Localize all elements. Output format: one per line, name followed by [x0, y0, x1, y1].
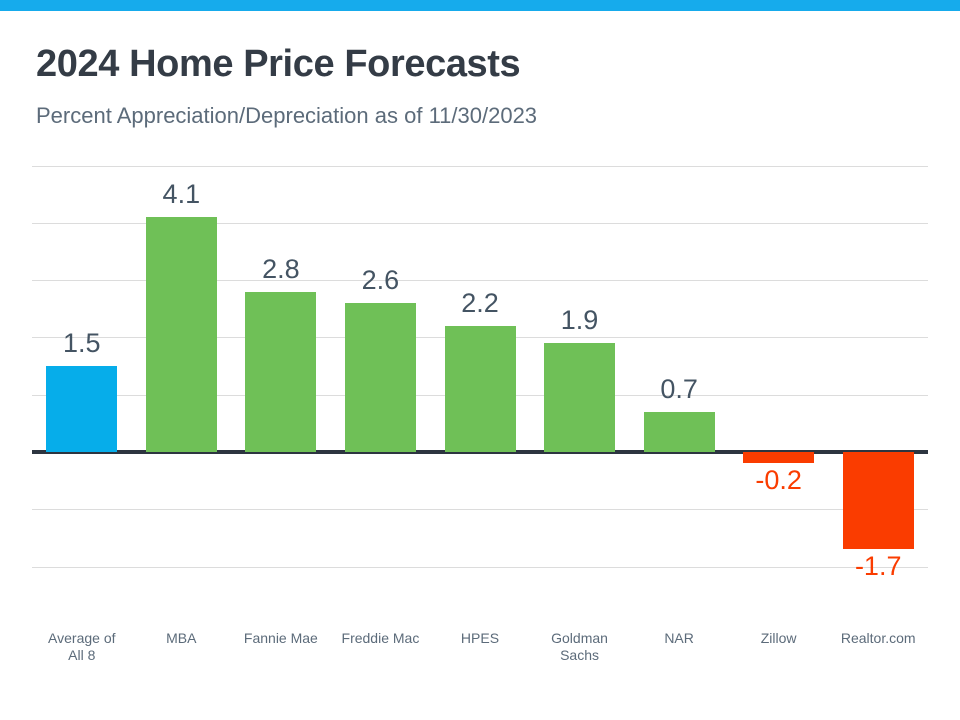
- chart-x-axis-label: Realtor.com: [828, 630, 928, 647]
- chart-value-label: 1.9: [530, 305, 630, 336]
- chart-bar: [345, 303, 416, 452]
- chart-x-axis-label-line: Freddie Mac: [331, 630, 431, 647]
- chart-bar: [843, 452, 914, 549]
- chart-x-axis-label: NAR: [629, 630, 729, 647]
- chart-bar: [146, 217, 217, 452]
- chart-x-axis-label-line: All 8: [32, 647, 132, 664]
- chart-x-axis-label-line: MBA: [132, 630, 232, 647]
- chart-value-label: 2.6: [331, 265, 431, 296]
- chart-value-label: 1.5: [32, 328, 132, 359]
- chart-value-label: -1.7: [828, 551, 928, 582]
- chart-x-axis-label: Fannie Mae: [231, 630, 331, 647]
- chart-x-axis-label: HPES: [430, 630, 530, 647]
- chart-value-label: 2.2: [430, 288, 530, 319]
- chart-bar: [445, 326, 516, 452]
- chart-bar: [644, 412, 715, 452]
- chart-x-axis-label: Average ofAll 8: [32, 630, 132, 664]
- chart-x-axis-label-line: HPES: [430, 630, 530, 647]
- chart-x-axis-label: Zillow: [729, 630, 829, 647]
- page-title: 2024 Home Price Forecasts: [36, 43, 520, 86]
- chart-value-label: 4.1: [132, 179, 232, 210]
- page-subtitle: Percent Appreciation/Depreciation as of …: [36, 103, 537, 129]
- top-accent-bar: [0, 0, 960, 11]
- chart-bar: [46, 366, 117, 452]
- chart-bar: [743, 452, 814, 463]
- chart-x-axis-label-line: Zillow: [729, 630, 829, 647]
- infographic-root: 2024 Home Price Forecasts Percent Apprec…: [0, 0, 960, 720]
- chart-x-axis-label: MBA: [132, 630, 232, 647]
- chart-bar: [245, 292, 316, 452]
- chart-x-axis-label-line: Average of: [32, 630, 132, 647]
- chart-x-axis-label-line: Fannie Mae: [231, 630, 331, 647]
- chart-x-axis-label-line: NAR: [629, 630, 729, 647]
- chart-value-label: -0.2: [729, 465, 829, 496]
- chart-value-label: 2.8: [231, 254, 331, 285]
- chart-bar: [544, 343, 615, 452]
- chart-bars: [32, 155, 928, 628]
- chart-x-axis-label-line: Goldman: [530, 630, 630, 647]
- chart-x-axis-label-line: Realtor.com: [828, 630, 928, 647]
- chart-x-axis-labels: Average ofAll 8MBAFannie MaeFreddie MacH…: [32, 630, 928, 700]
- chart-plot-area: 1.54.12.82.62.21.90.7-0.2-1.7: [32, 155, 928, 628]
- chart-x-axis-label: GoldmanSachs: [530, 630, 630, 664]
- chart-x-axis-label: Freddie Mac: [331, 630, 431, 647]
- chart-value-label: 0.7: [629, 374, 729, 405]
- chart-x-axis-label-line: Sachs: [530, 647, 630, 664]
